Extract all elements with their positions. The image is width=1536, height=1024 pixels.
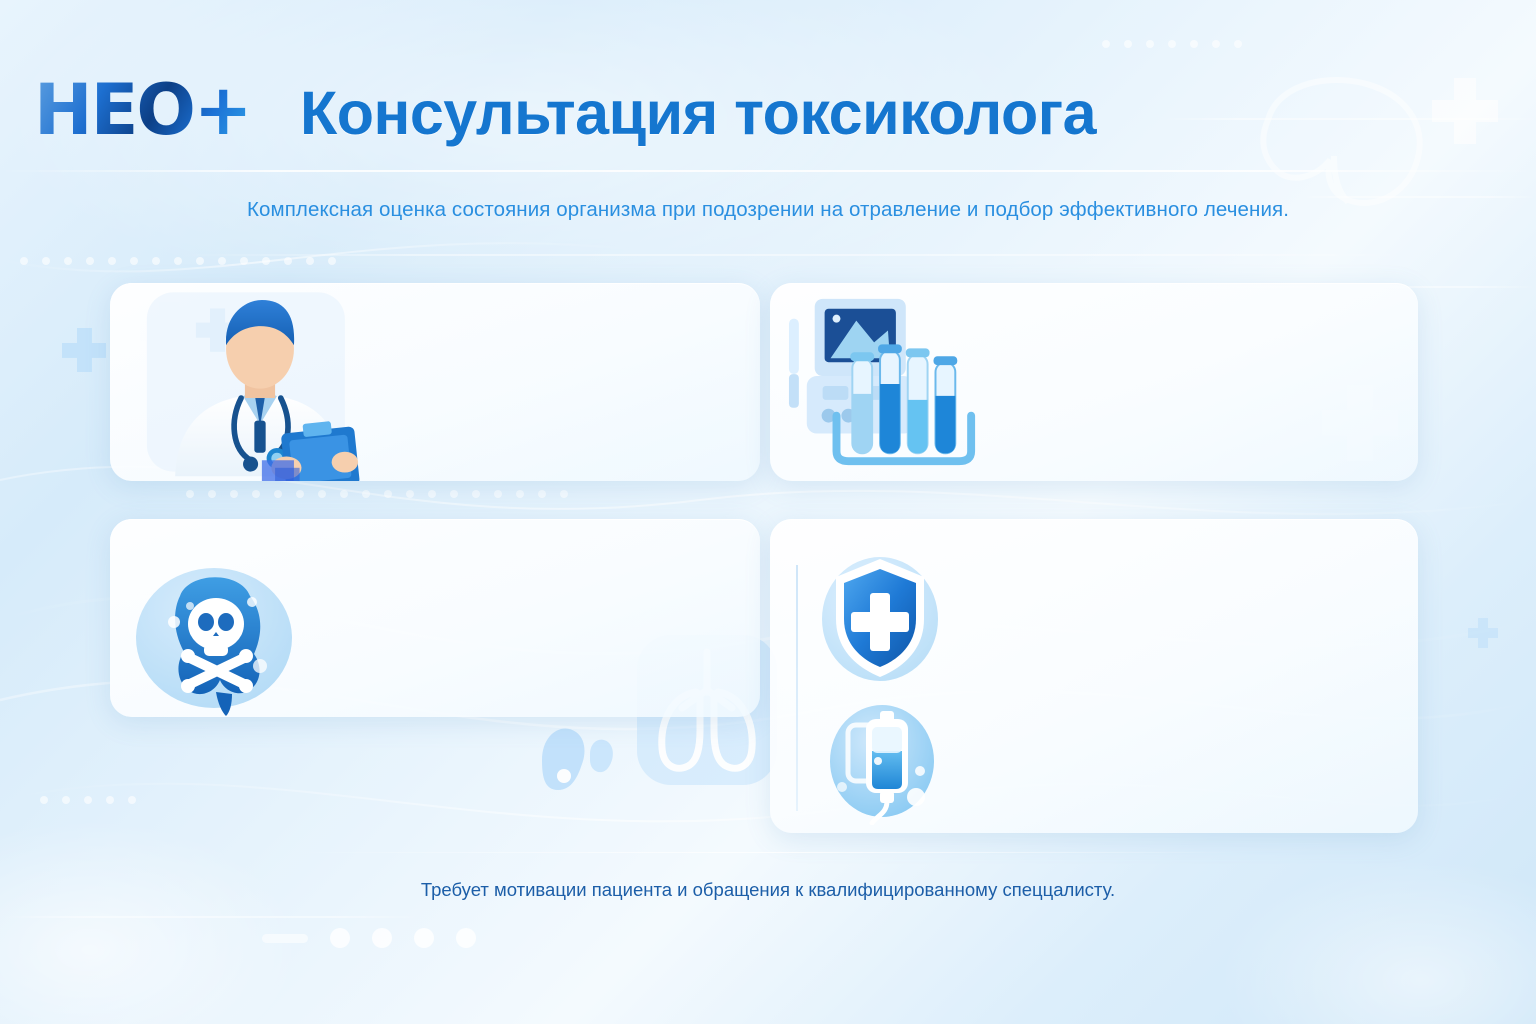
iv-drip-bag-icon <box>820 701 944 825</box>
brand-logo-text: HEO <box>34 69 194 151</box>
card-accent-bar <box>796 565 798 811</box>
card-sbor-anamneza[interactable]: Сбор анамнеза Анализ симптомов, болезией… <box>110 283 760 481</box>
decorative-dots <box>40 796 136 804</box>
page-subtitle: Комплексная оценка состояния организма п… <box>0 198 1536 222</box>
corner-glow <box>0 820 300 1024</box>
card-opredelenie-intoksikacii[interactable]: Определение интоксикации Выявление токси… <box>110 519 760 717</box>
background-decorations <box>0 0 1536 1024</box>
shield-cross-icon <box>816 547 946 687</box>
card-diagnostika[interactable]: Диагностика Анализы и дополнительные исс… <box>770 283 1418 481</box>
background-waves <box>0 0 1536 1024</box>
page-title: Консультация токсиколога <box>300 78 1096 148</box>
decorative-dots <box>20 257 336 265</box>
decorative-dots <box>186 490 568 498</box>
medical-cross-icon <box>1432 78 1498 144</box>
poison-skull-crossbones-icon <box>128 543 308 717</box>
lab-equipment-test-tubes-icon <box>770 283 1000 481</box>
decorative-dots-large <box>262 928 476 948</box>
brand-logo-plus: + <box>194 69 251 151</box>
decorative-line <box>1160 118 1536 120</box>
decorative-line <box>180 254 1410 256</box>
decorative-line <box>0 170 1536 172</box>
medical-cross-icon <box>62 328 106 372</box>
footer-divider <box>288 852 1248 853</box>
decorative-line <box>0 916 420 918</box>
card-plan-lecheniya[interactable]: План лечения Острые состояния Детоксикац… <box>770 519 1418 833</box>
doctor-illustration-icon <box>110 283 410 481</box>
footer-note: Требует мотивации пациента и обращения к… <box>0 879 1536 901</box>
decorative-dots <box>1102 40 1242 48</box>
brand-logo[interactable]: HEO+ <box>34 75 251 145</box>
medical-cross-icon <box>1468 618 1498 648</box>
kidney-watermark-icon <box>528 716 638 806</box>
